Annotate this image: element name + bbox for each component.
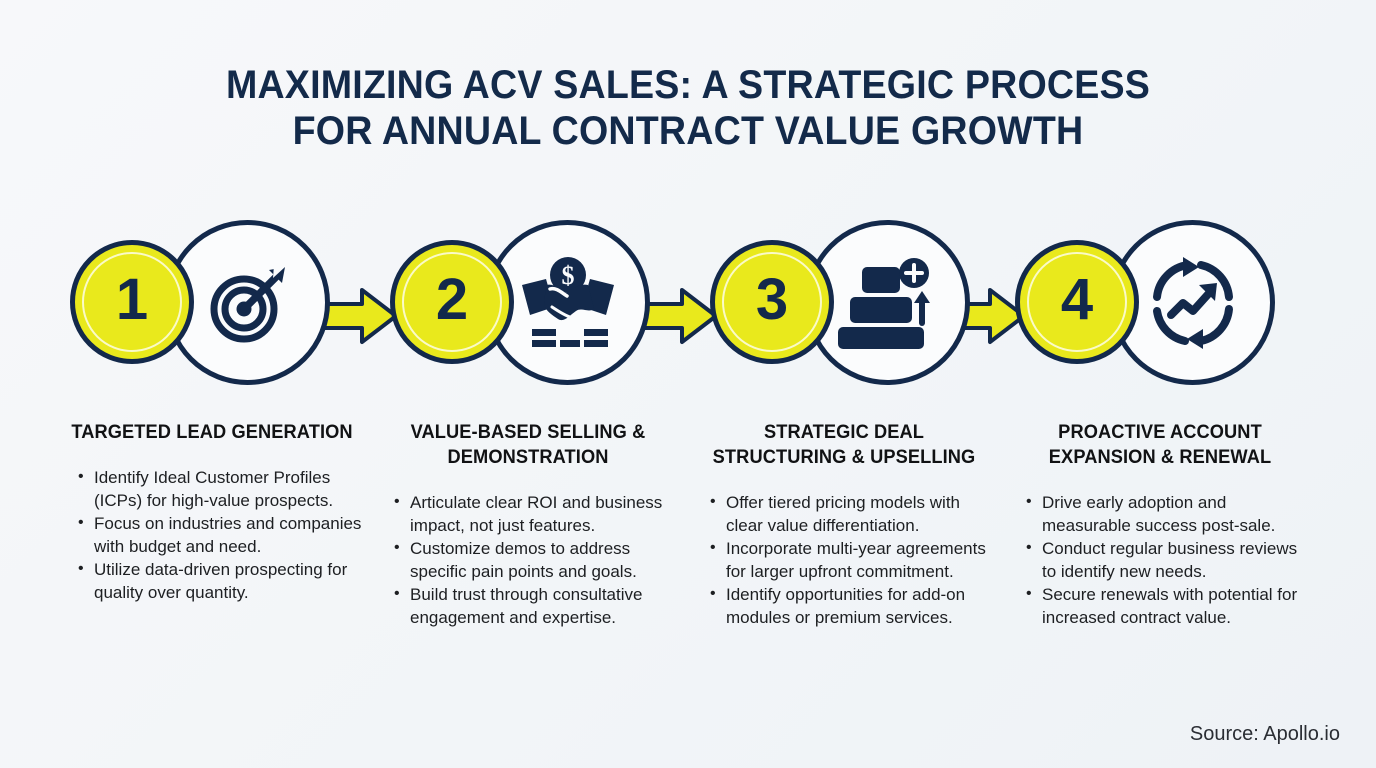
process-step-2[interactable]: $ 2 [390, 212, 654, 394]
step-1-heading: Targeted Lead Generation [68, 420, 356, 445]
step-1-bullet-list: Identify Ideal Customer Profiles (ICPs) … [62, 467, 362, 604]
svg-text:$: $ [561, 261, 574, 290]
step-4-number-badge: 4 [1015, 240, 1139, 364]
target-arrow-icon [202, 257, 294, 349]
step-3-number-badge: 3 [710, 240, 834, 364]
process-step-1[interactable]: 1 [70, 212, 334, 394]
step-column-2: Value-Based Selling & Demonstration Arti… [378, 420, 678, 630]
step-1-number: 1 [116, 271, 148, 329]
step-details: Targeted Lead Generation Identify Ideal … [62, 420, 1320, 630]
list-item: Offer tiered pricing models with clear v… [710, 492, 994, 537]
step-1-number-badge: 1 [70, 240, 194, 364]
step-4-heading: Proactive Account Expansion & Renewal [1016, 420, 1304, 470]
source-attribution: Source: Apollo.io [1190, 723, 1340, 746]
step-column-3: Strategic Deal Structuring & Upselling O… [694, 420, 994, 630]
list-item: Customize demos to address specific pain… [394, 538, 678, 583]
step-3-heading: Strategic Deal Structuring & Upselling [700, 420, 988, 470]
handshake-money-icon: $ [516, 255, 620, 351]
page-title-line-2: for Annual Contract Value Growth [41, 108, 1334, 154]
list-item: Build trust through consultative engagem… [394, 584, 678, 629]
list-item: Secure renewals with potential for incre… [1026, 584, 1310, 629]
step-2-heading: Value-Based Selling & Demonstration [384, 420, 672, 470]
list-item: Utilize data-driven prospecting for qual… [78, 559, 362, 604]
process-flow: 1 $ 2 [60, 212, 1316, 394]
list-item: Conduct regular business reviews to iden… [1026, 538, 1310, 583]
list-item: Identify opportunities for add-on module… [710, 584, 994, 629]
step-3-number: 3 [756, 271, 788, 329]
page-title-line-1: Maximizing ACV Sales: A Strategic Proces… [41, 62, 1334, 108]
list-item: Focus on industries and companies with b… [78, 513, 362, 558]
process-step-3[interactable]: 3 [710, 212, 974, 394]
step-2-bullet-list: Articulate clear ROI and business impact… [378, 492, 678, 629]
step-2-number: 2 [436, 271, 468, 329]
step-column-1: Targeted Lead Generation Identify Ideal … [62, 420, 362, 630]
list-item: Articulate clear ROI and business impact… [394, 492, 678, 537]
list-item: Drive early adoption and measurable succ… [1026, 492, 1310, 537]
renewal-growth-cycle-icon [1143, 253, 1243, 353]
step-column-4: Proactive Account Expansion & Renewal Dr… [1010, 420, 1310, 630]
step-2-number-badge: 2 [390, 240, 514, 364]
process-step-4[interactable]: 4 [1015, 212, 1279, 394]
tiered-pricing-upsell-icon [836, 257, 940, 349]
step-4-number: 4 [1061, 271, 1093, 329]
step-4-bullet-list: Drive early adoption and measurable succ… [1010, 492, 1310, 629]
step-3-bullet-list: Offer tiered pricing models with clear v… [694, 492, 994, 629]
list-item: Identify Ideal Customer Profiles (ICPs) … [78, 467, 362, 512]
list-item: Incorporate multi-year agreements for la… [710, 538, 994, 583]
page-title: Maximizing ACV Sales: A Strategic Proces… [41, 62, 1334, 154]
